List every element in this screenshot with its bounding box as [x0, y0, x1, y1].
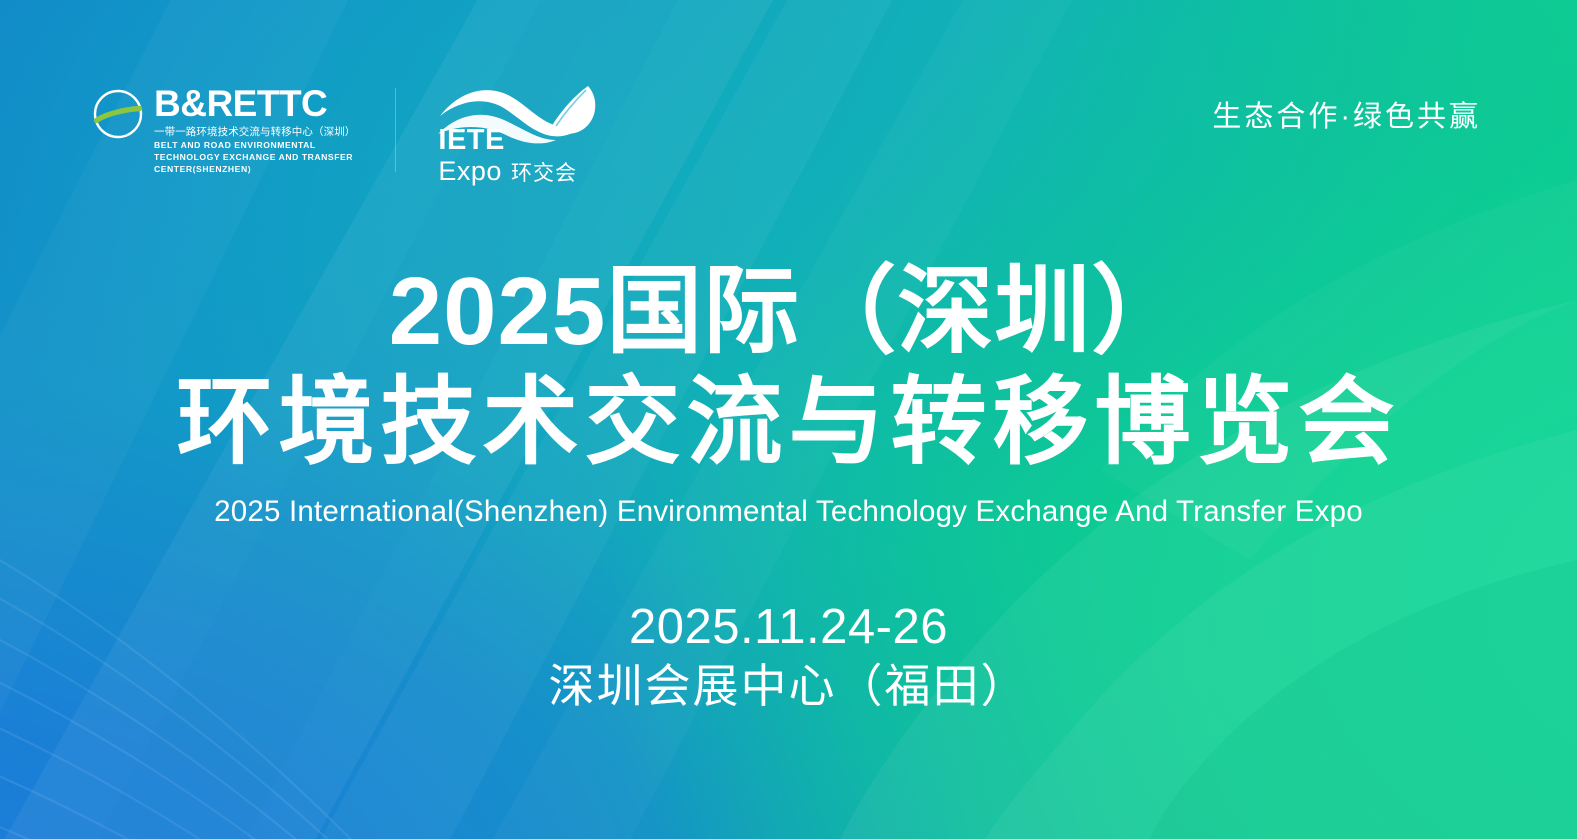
iete-text-block: IETE Expo 环交会	[438, 126, 577, 185]
logo-divider	[395, 88, 396, 172]
iete-expo-logo[interactable]: IETE Expo 环交会	[436, 82, 599, 182]
event-venue: 深圳会展中心（福田）	[0, 661, 1577, 713]
brettc-english-line-3: CENTER(SHENZHEN)	[154, 164, 355, 175]
brettc-wordmark: B&RETTC	[154, 86, 355, 122]
brettc-logo[interactable]: B&RETTC 一带一路环境技术交流与转移中心（深圳） BELT AND ROA…	[92, 82, 355, 176]
logo-group: B&RETTC 一带一路环境技术交流与转移中心（深圳） BELT AND ROA…	[92, 82, 599, 182]
slogan-text: 生态合作·绿色共赢	[1212, 103, 1481, 132]
brettc-english-line-1: BELT AND ROAD ENVIRONMENTAL	[154, 140, 355, 151]
title-block: 2025国际（深圳） 环境技术交流与转移博览会 2025 Internation…	[0, 262, 1577, 529]
title-chinese-line-2: 环境技术交流与转移博览会	[0, 372, 1577, 474]
banner-content: B&RETTC 一带一路环境技术交流与转移中心（深圳） BELT AND ROA…	[0, 0, 1577, 839]
event-details: 2025.11.24-26 深圳会展中心（福田）	[0, 600, 1577, 712]
iete-expo-word: Expo	[438, 158, 502, 185]
brettc-chinese-name: 一带一路环境技术交流与转移中心（深圳）	[154, 125, 355, 139]
brettc-english-line-2: TECHNOLOGY EXCHANGE AND TRANSFER	[154, 152, 355, 163]
title-chinese-line-1: 2025国际（深圳）	[0, 262, 1577, 362]
globe-meridian-icon	[92, 88, 144, 140]
event-date: 2025.11.24-26	[0, 600, 1577, 655]
brettc-text-block: B&RETTC 一带一路环境技术交流与转移中心（深圳） BELT AND ROA…	[154, 86, 355, 176]
iete-subline: Expo 环交会	[438, 158, 577, 185]
iete-chinese-short: 环交会	[511, 163, 577, 184]
iete-abbreviation: IETE	[438, 126, 577, 155]
banner-header: B&RETTC 一带一路环境技术交流与转移中心（深圳） BELT AND ROA…	[92, 82, 1481, 182]
expo-banner: B&RETTC 一带一路环境技术交流与转移中心（深圳） BELT AND ROA…	[0, 0, 1577, 839]
title-english: 2025 International(Shenzhen) Environment…	[0, 494, 1577, 529]
